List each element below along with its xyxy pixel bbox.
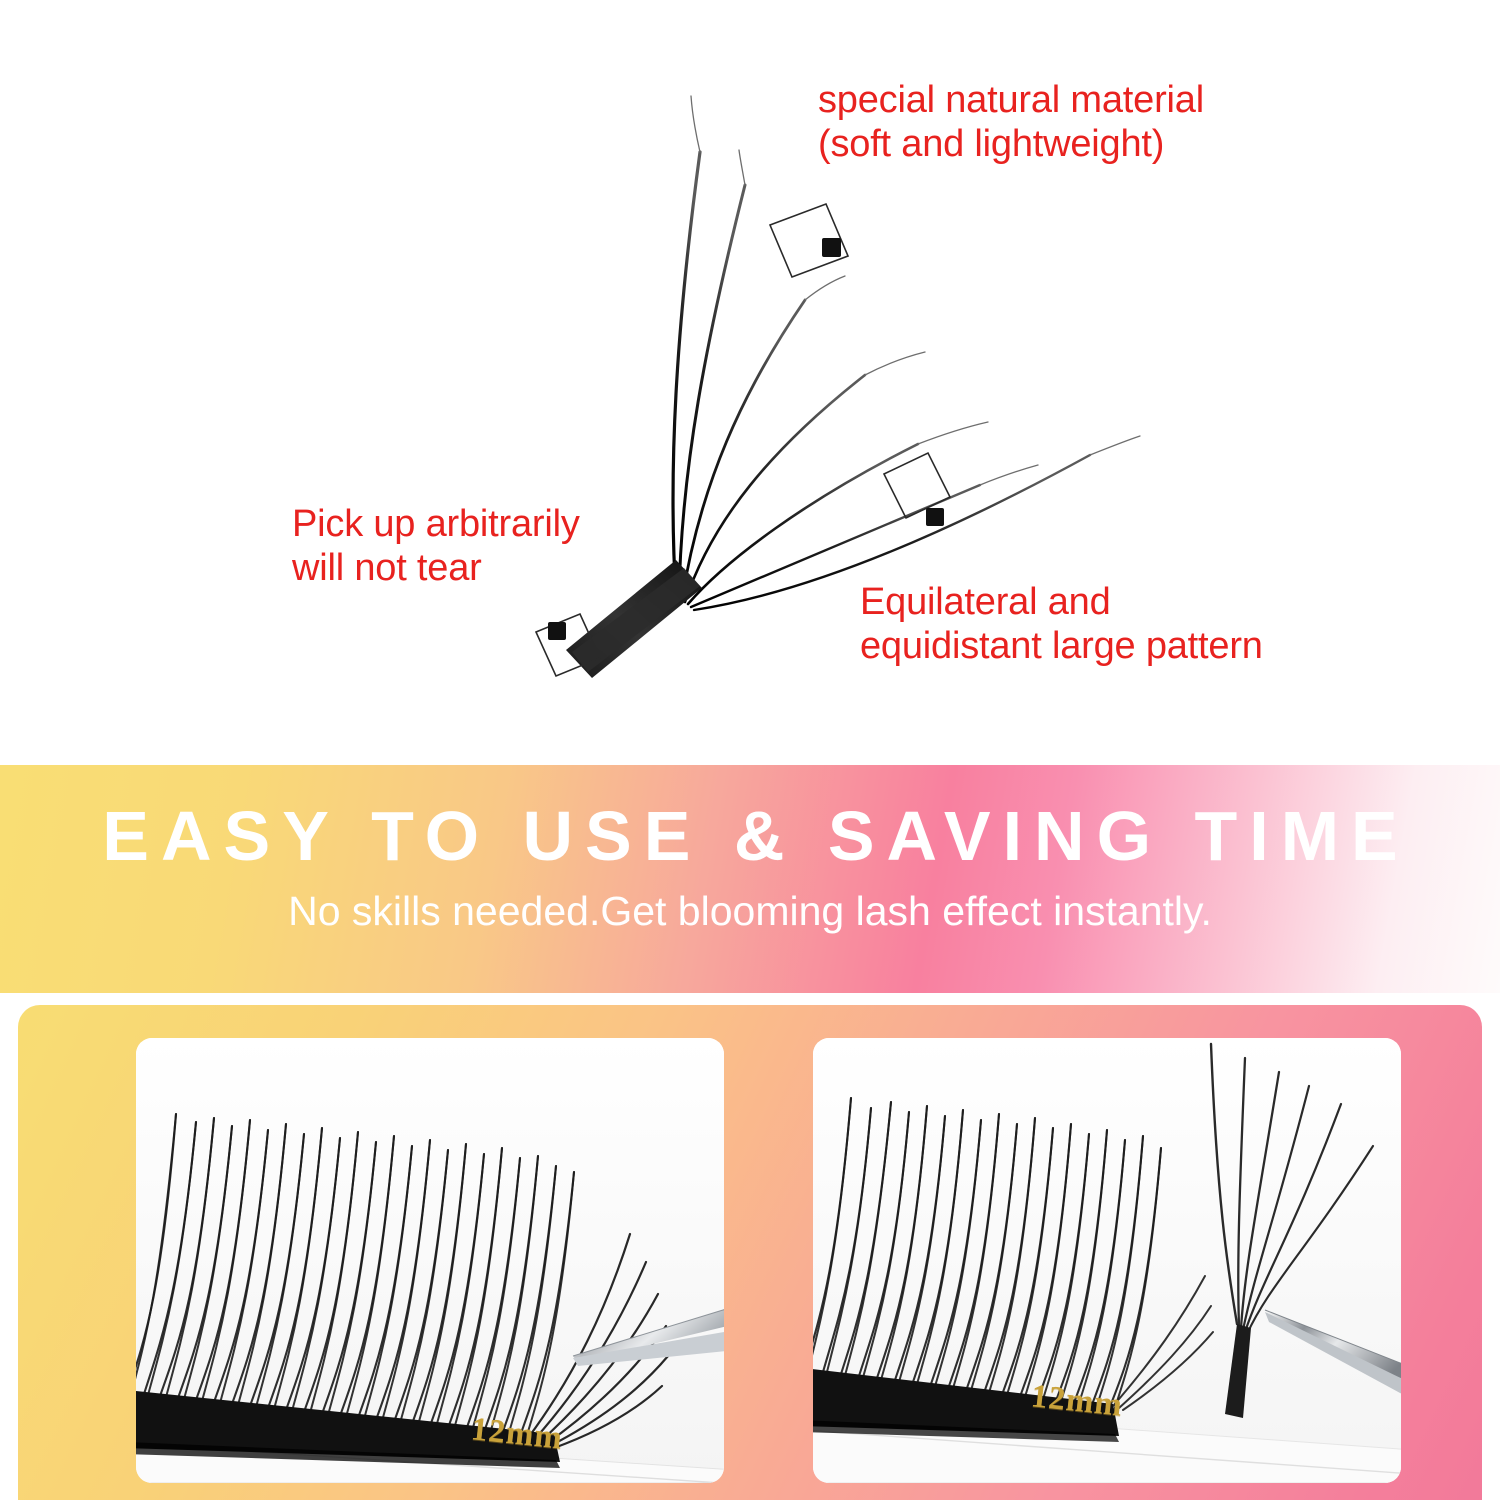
lash-fan-diagram: [0, 0, 1500, 765]
photo-card-lash-fan-pickup[interactable]: 12mm: [813, 1038, 1401, 1483]
marker-square-top: [770, 204, 848, 277]
banner-subtitle: No skills needed.Get blooming lash effec…: [0, 891, 1500, 932]
headline-banner: EASY TO USE & SAVING TIME No skills need…: [0, 765, 1500, 993]
lash-fan-base: [566, 560, 702, 678]
lash-fibers: [673, 152, 1090, 610]
photo-card-lash-tray[interactable]: 12mm: [136, 1038, 724, 1483]
banner-title: EASY TO USE & SAVING TIME: [0, 801, 1500, 871]
photo-section: 12mm: [0, 1005, 1500, 1500]
callout-equilateral-equidistant: Equilateral and equidistant large patter…: [860, 580, 1263, 668]
photo-gradient-frame: 12mm: [18, 1005, 1482, 1500]
lash-tray-photo: [136, 1038, 724, 1483]
diagram-section: special natural material (soft and light…: [0, 0, 1500, 765]
marker-square-middle: [884, 453, 950, 526]
callout-special-natural-material: special natural material (soft and light…: [818, 78, 1204, 166]
callout-pick-up-arbitrarily: Pick up arbitrarily will not tear: [292, 502, 580, 590]
